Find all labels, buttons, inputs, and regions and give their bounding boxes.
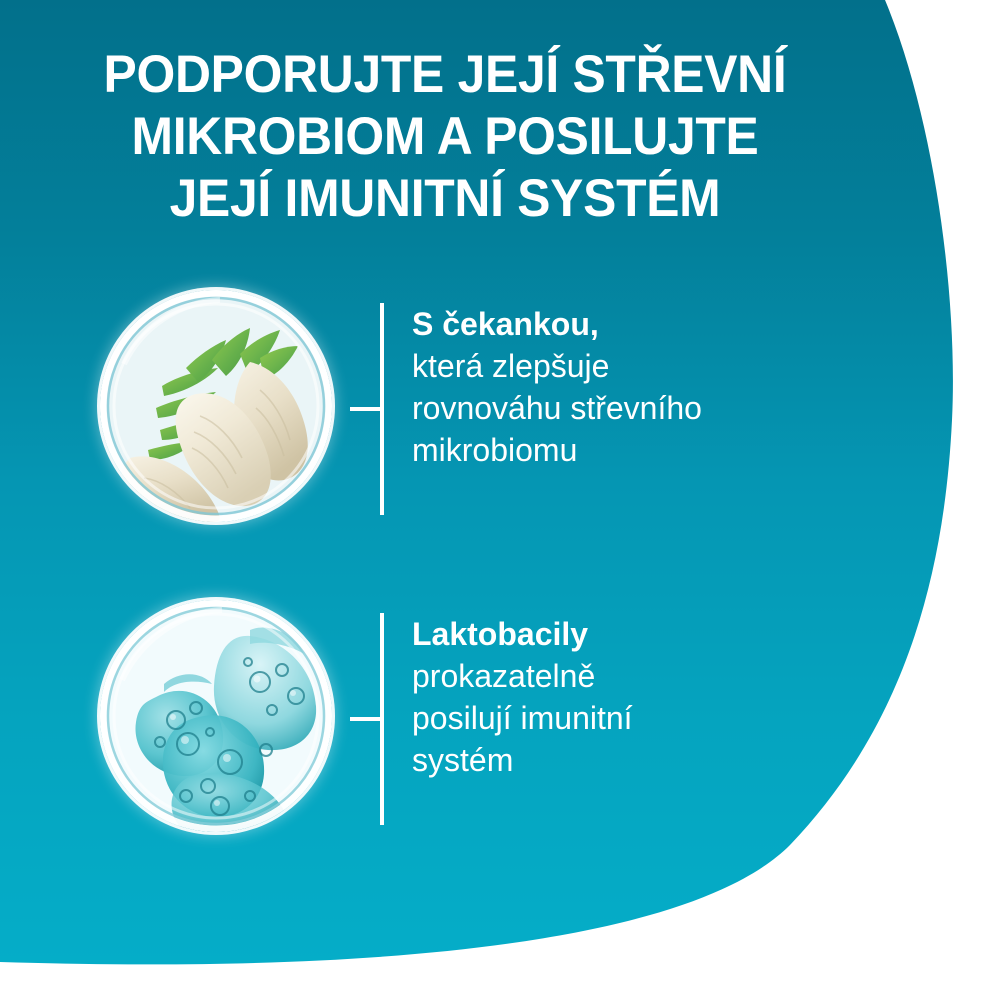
- lactobacilli-gel-bubbles-image: [100, 600, 332, 832]
- page-title: PODPORUJTE JEJÍ STŘEVNÍ MIKROBIOM A POSI…: [27, 44, 864, 230]
- feature-lactobacilli-text: Laktobacily prokazatelně posilují imunit…: [412, 613, 882, 781]
- feature-chicory: S čekankou, která zlepšuje rovnováhu stř…: [0, 285, 900, 525]
- connector-horizontal-tick: [350, 407, 380, 411]
- promo-poster: PODPORUJTE JEJÍ STŘEVNÍ MIKROBIOM A POSI…: [0, 0, 1000, 1000]
- connector-line-chicory: [350, 303, 384, 515]
- feature-lactobacilli-lead: Laktobacily: [412, 613, 882, 655]
- feature-lactobacilli-body-line-2: posilují imunitní: [412, 697, 882, 739]
- feature-lactobacilli-body-line-1: prokazatelně: [412, 655, 882, 697]
- connector-horizontal-tick: [350, 717, 380, 721]
- chicory-root-petri-dish-image: [100, 290, 332, 522]
- feature-chicory-body-line-2: rovnováhu střevního: [412, 387, 882, 429]
- feature-chicory-lead: S čekankou,: [412, 303, 882, 345]
- connector-vertical-line: [380, 303, 384, 515]
- feature-chicory-body-line-1: která zlepšuje: [412, 345, 882, 387]
- feature-lactobacilli-body-line-3: systém: [412, 739, 882, 781]
- feature-lactobacilli: Laktobacily prokazatelně posilují imunit…: [0, 595, 900, 835]
- connector-line-lactobacilli: [350, 613, 384, 825]
- feature-chicory-text: S čekankou, která zlepšuje rovnováhu stř…: [412, 303, 882, 471]
- connector-vertical-line: [380, 613, 384, 825]
- feature-chicory-body-line-3: mikrobiomu: [412, 429, 882, 471]
